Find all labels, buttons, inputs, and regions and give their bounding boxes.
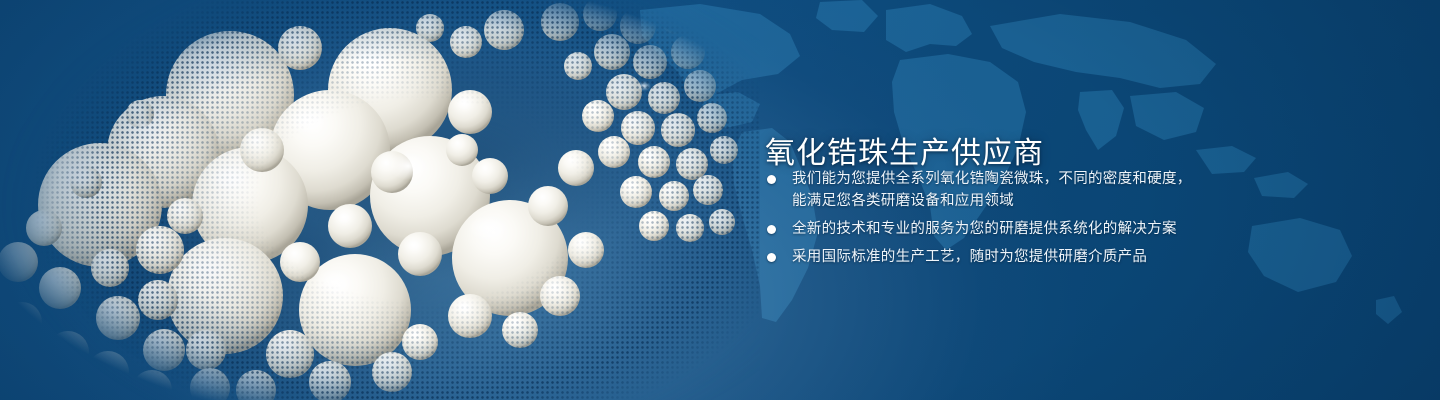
feature-line-1: 采用国际标准的生产工艺，随时为您提供研磨介质产品 — [792, 249, 1147, 265]
list-item: 采用国际标准的生产工艺，随时为您提供研磨介质产品 — [765, 246, 1235, 268]
list-item: 我们能为您提供全系列氧化锆陶瓷微珠，不同的密度和硬度， 能满足您各类研磨设备和应… — [765, 168, 1235, 212]
feature-text: 采用国际标准的生产工艺，随时为您提供研磨介质产品 — [792, 246, 1235, 268]
feature-line-1: 全新的技术和专业的服务为您的研磨提供系统化的解决方案 — [792, 221, 1177, 237]
promo-banner: 氧化锆珠生产供应商 我们能为您提供全系列氧化锆陶瓷微珠，不同的密度和硬度， 能满… — [0, 0, 1440, 400]
bullet-dot-icon — [767, 253, 776, 262]
bullet-dot-icon — [767, 175, 776, 184]
bullet-dot-icon — [767, 225, 776, 234]
banner-copy: 氧化锆珠生产供应商 我们能为您提供全系列氧化锆陶瓷微珠，不同的密度和硬度， 能满… — [765, 0, 1365, 400]
banner-headline: 氧化锆珠生产供应商 — [765, 128, 1044, 172]
feature-text: 全新的技术和专业的服务为您的研磨提供系统化的解决方案 — [792, 218, 1235, 240]
feature-list: 我们能为您提供全系列氧化锆陶瓷微珠，不同的密度和硬度， 能满足您各类研磨设备和应… — [765, 168, 1235, 268]
feature-line-1: 我们能为您提供全系列氧化锆陶瓷微珠，不同的密度和硬度， — [792, 171, 1192, 187]
feature-text: 我们能为您提供全系列氧化锆陶瓷微珠，不同的密度和硬度， 能满足您各类研磨设备和应… — [792, 168, 1235, 212]
list-item: 全新的技术和专业的服务为您的研磨提供系统化的解决方案 — [765, 218, 1235, 240]
feature-line-2: 能满足您各类研磨设备和应用领域 — [792, 190, 1235, 212]
zirconia-beads-photo — [0, 0, 760, 400]
bead-cluster — [0, 0, 760, 400]
